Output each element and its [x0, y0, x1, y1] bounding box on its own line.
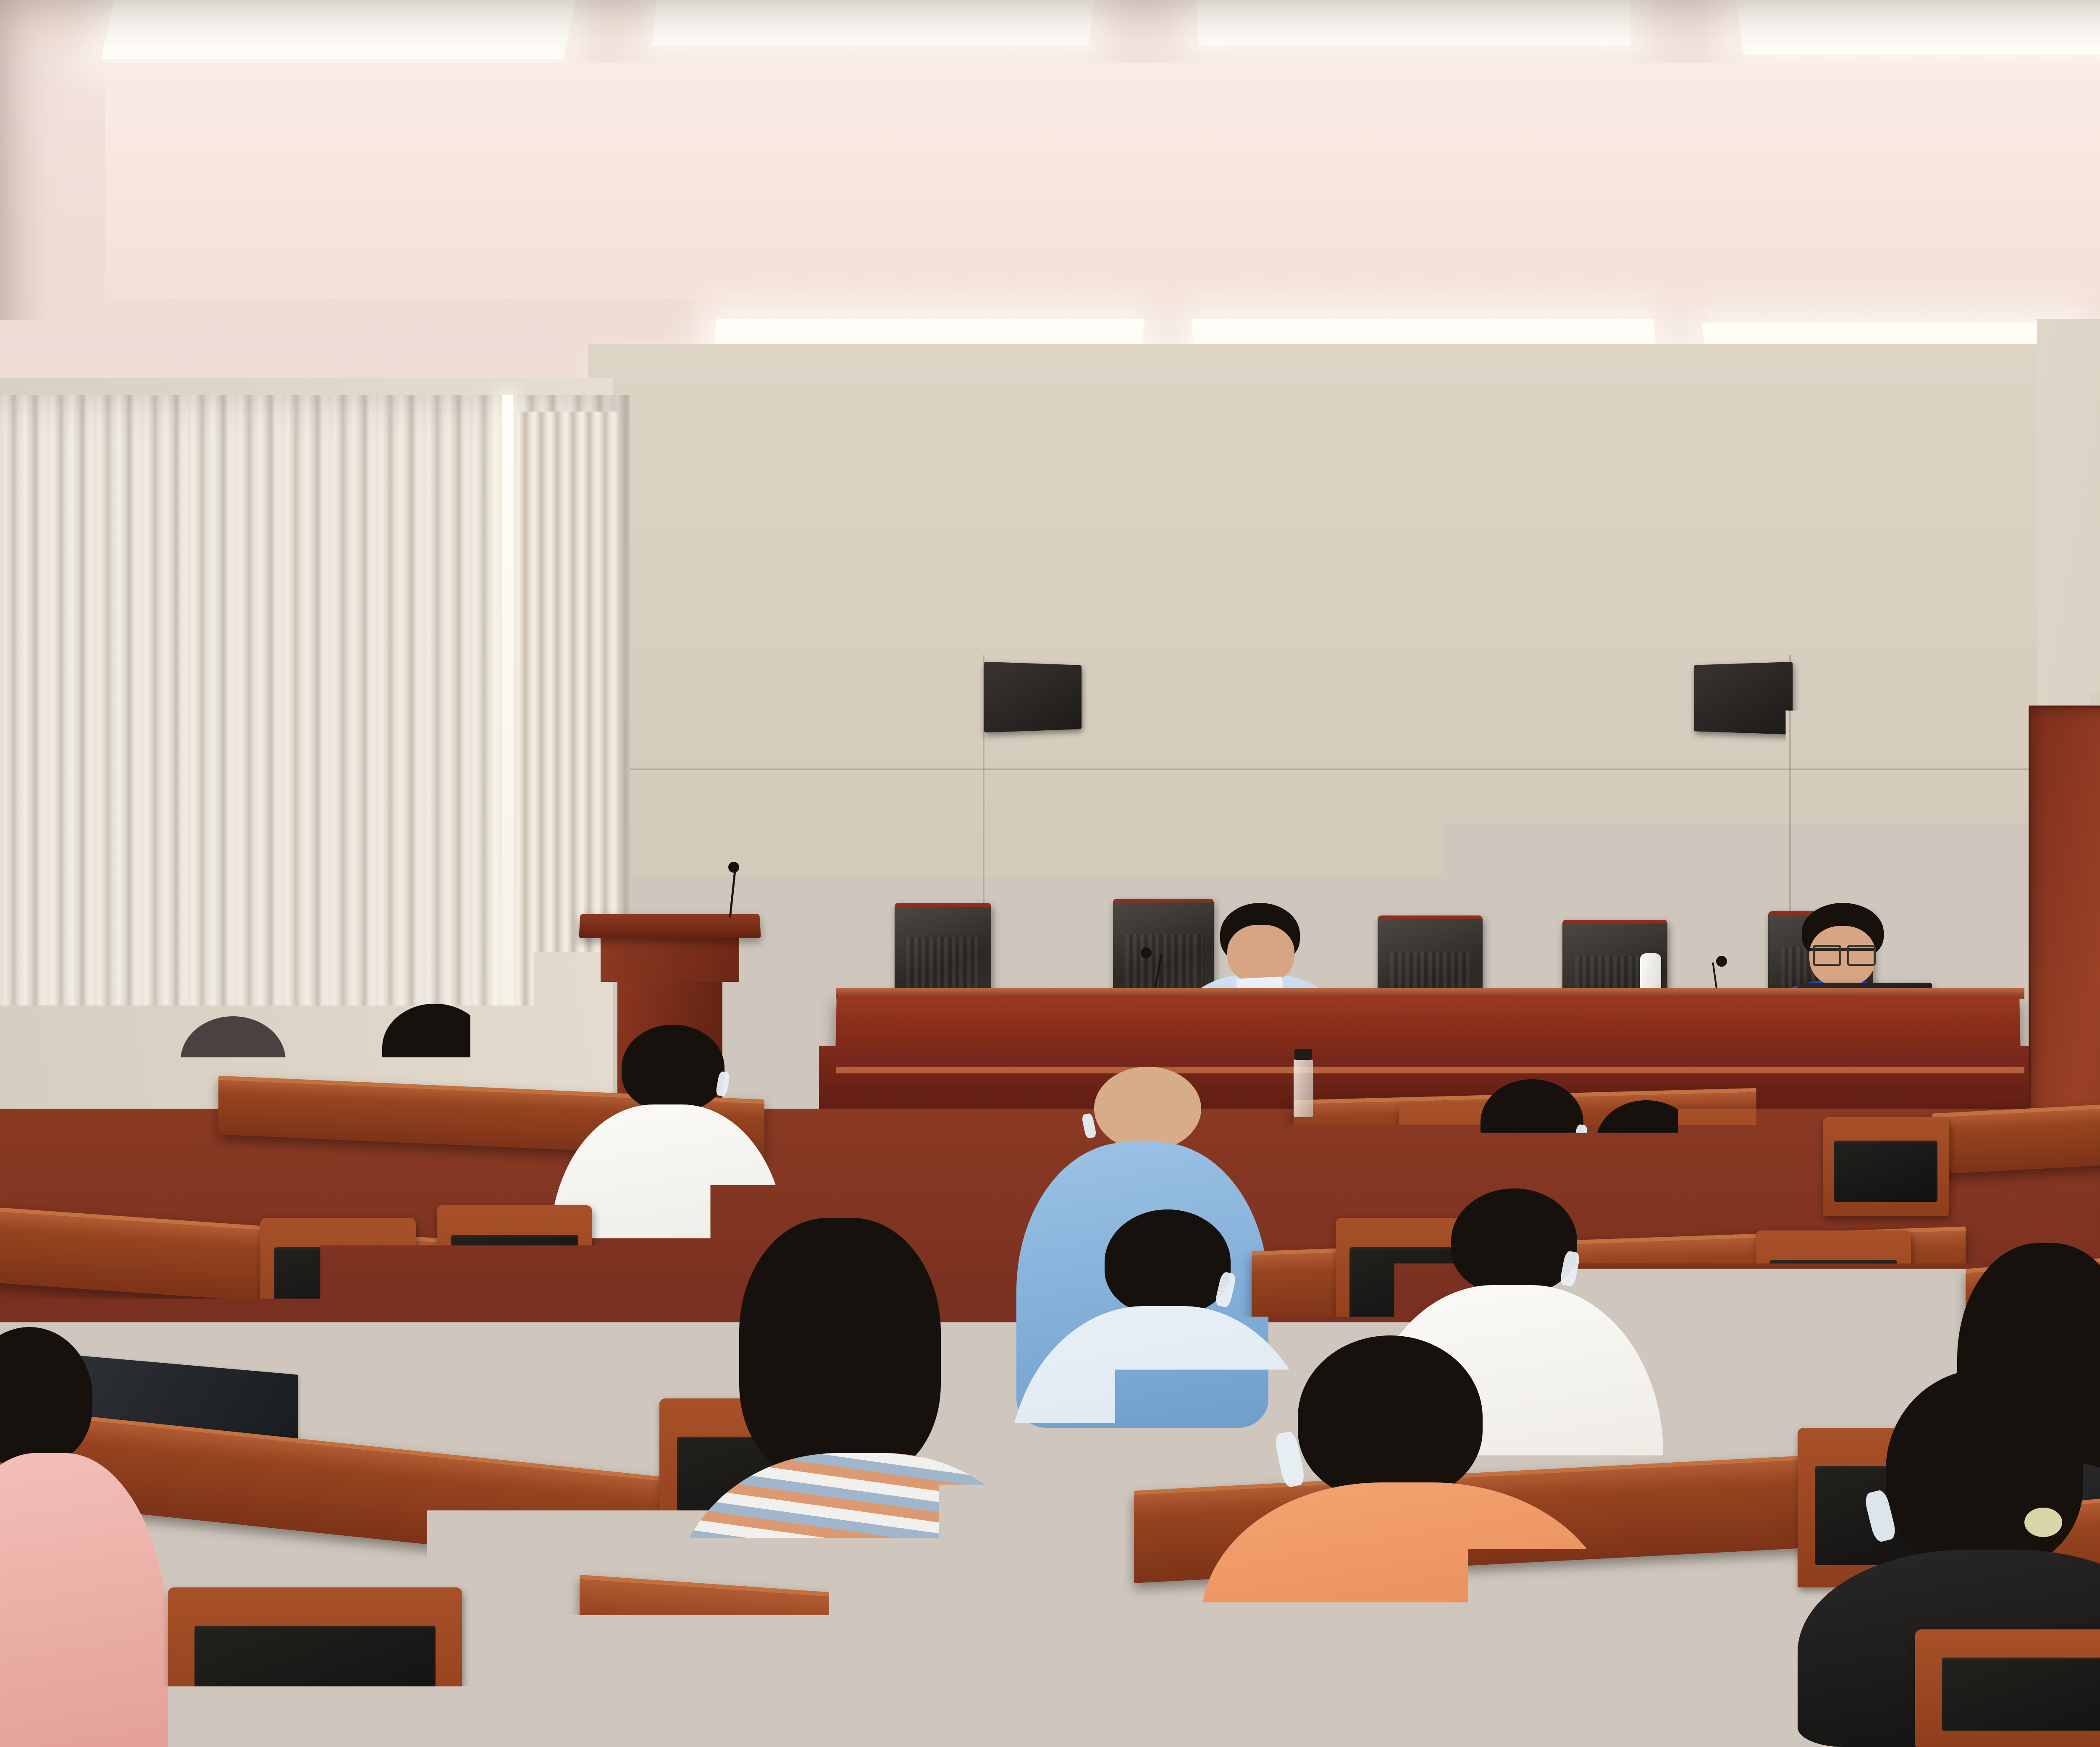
attendee-hair: [1094, 1067, 1201, 1151]
attendee-hair: [181, 1016, 286, 1104]
presenter-left-face: [1227, 925, 1294, 984]
slide-title-line-1: 学习贯彻习近平总书记七一重要讲话精神: [1143, 805, 1650, 840]
lectern-body: [601, 936, 739, 982]
chair-pad: [451, 1235, 578, 1312]
sparkle-decor: ✦: [1172, 705, 1202, 746]
window-light-gap: [502, 395, 513, 1109]
speaker-icon: [1694, 662, 1793, 734]
attendee-hair: [1886, 1369, 2083, 1571]
audience-chair: [1915, 1629, 2100, 1747]
slide-title-line-2: 用马克思主义观察时代把握时代引领时代: [1143, 838, 1650, 874]
attendee-hair: [1298, 1335, 1483, 1499]
audience-chair: [260, 1218, 416, 1340]
chair-pad: [274, 1247, 402, 1323]
sparkle-decor: ✧: [1200, 753, 1212, 769]
chair-pad: [1942, 1658, 2100, 1731]
hammer-sickle-icon: ☭: [1371, 725, 1416, 783]
attendee-hair: [739, 1218, 941, 1478]
glasses-icon: [1813, 945, 1841, 966]
microphone-icon: [1141, 947, 1152, 958]
conference-room-photo: ☭ 100 ✦ ✦ ✧ ✦ ✧ ✧ 学习贯彻习近平总书记七一重要讲话精神 用马克…: [0, 0, 2100, 1747]
attendee: [0, 1327, 185, 1747]
attendee-hair: [1596, 1100, 1697, 1184]
water-bottle: [1294, 1058, 1313, 1117]
chair-pad: [1769, 1260, 1897, 1337]
audience-chair: [168, 1587, 462, 1747]
ceiling-cove-band: [105, 63, 2100, 298]
attendee-hair: [622, 1025, 724, 1111]
table-trim: [836, 1067, 2024, 1073]
glasses-icon: [1847, 945, 1876, 966]
sparkle-decor: ✦: [1155, 742, 1171, 766]
water-glass: [781, 1676, 829, 1747]
microphone-icon: [1716, 956, 1727, 967]
chair-pad: [1834, 1141, 1937, 1202]
ceiling-light-panel: [1734, 0, 2100, 55]
lectern-microphone-icon: [728, 862, 739, 873]
audience-chair: [437, 1205, 592, 1329]
centenary-emblem-icon: 100: [1551, 693, 1628, 731]
screen-housing: [1143, 647, 1650, 680]
attendee-hair: [1105, 1209, 1231, 1314]
audience-chair: [1823, 1117, 1949, 1216]
slide-presenter-affiliation: 安徽财经大学马克思主义学院 张斌: [1143, 880, 1650, 901]
lectern-top: [579, 914, 761, 938]
attendee-hair: [1451, 1188, 1577, 1293]
attendee-hair: [0, 1327, 92, 1466]
face-mask-icon: [1081, 1113, 1097, 1139]
ceiling-light-panel: [1196, 0, 1630, 46]
attendee-torso: [0, 1453, 168, 1747]
attendee-hair: [382, 1004, 487, 1092]
ceiling-light-panel: [652, 0, 1095, 46]
ceiling-light-panel: [101, 0, 579, 59]
hair-tie-icon: [2024, 1508, 2062, 1537]
speaker-icon: [984, 662, 1081, 733]
chair-pad: [194, 1626, 436, 1725]
water-bottle-cap-icon: [1294, 1049, 1312, 1060]
